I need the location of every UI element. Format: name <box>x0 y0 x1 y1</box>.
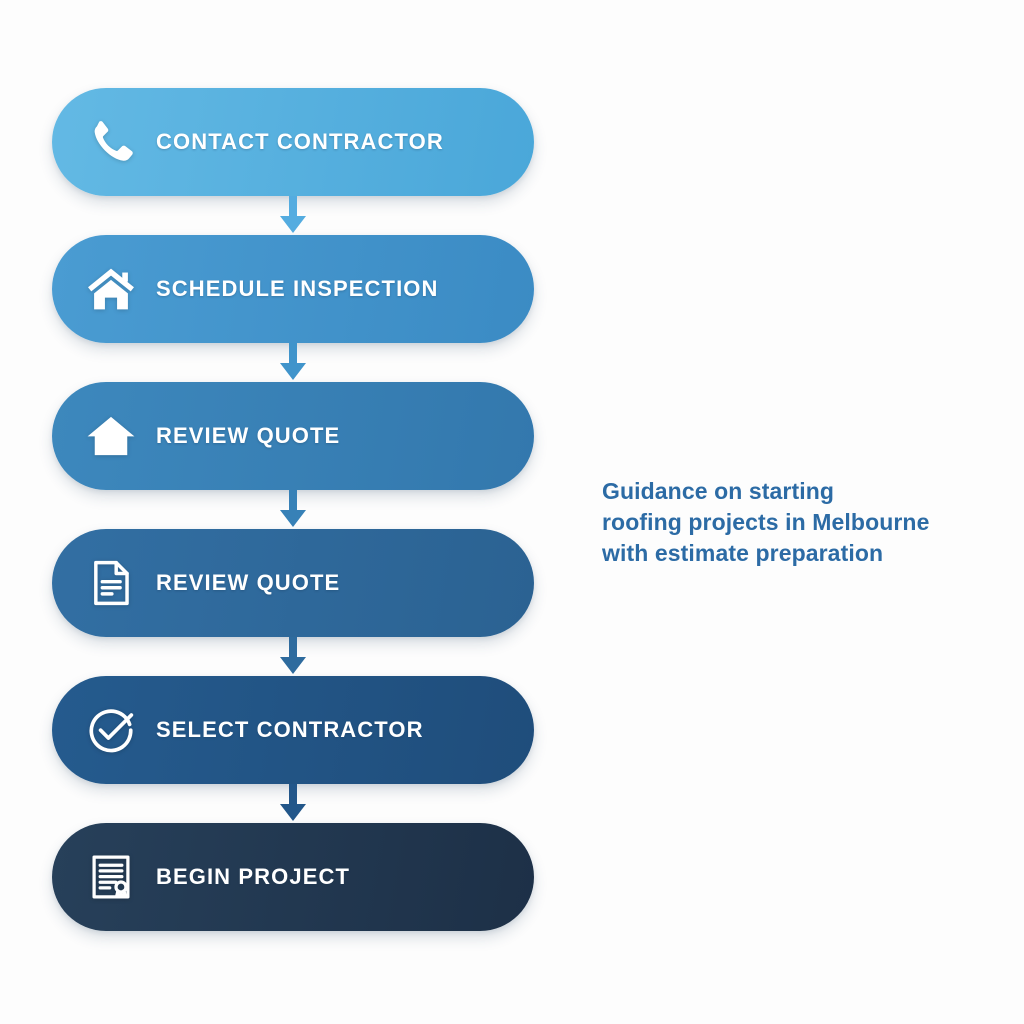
phone-icon <box>78 109 144 175</box>
caption-line-3: with estimate preparation <box>602 538 974 569</box>
step-label: SELECT CONTRACTOR <box>156 717 424 743</box>
step-label: BEGIN PROJECT <box>156 864 350 890</box>
flow-arrow-5-to-6 <box>52 784 534 823</box>
house-icon <box>78 256 144 322</box>
caption-line-2: roofing projects in Melbourne <box>602 507 974 538</box>
step-pill-begin-project[interactable]: BEGIN PROJECT <box>52 823 534 931</box>
process-step-2: SCHEDULE INSPECTION <box>52 235 534 382</box>
flow-arrow-2-to-3 <box>52 343 534 382</box>
step-pill-schedule-inspection[interactable]: SCHEDULE INSPECTION <box>52 235 534 343</box>
caption-line-1: Guidance on starting <box>602 476 974 507</box>
step-label: SCHEDULE INSPECTION <box>156 276 438 302</box>
check-circle-icon <box>78 697 144 763</box>
caption-text: Guidance on starting roofing projects in… <box>602 476 974 569</box>
step-pill-review-quote-home[interactable]: REVIEW QUOTE <box>52 382 534 490</box>
step-label: CONTACT CONTRACTOR <box>156 129 444 155</box>
step-label: REVIEW QUOTE <box>156 570 340 596</box>
flowchart-canvas: CONTACT CONTRACTOR SCHEDULE I <box>0 0 1024 1024</box>
home-solid-icon <box>78 403 144 469</box>
process-step-6: BEGIN PROJECT <box>52 823 534 931</box>
flow-arrow-3-to-4 <box>52 490 534 529</box>
step-pill-select-contractor[interactable]: SELECT CONTRACTOR <box>52 676 534 784</box>
process-step-5: SELECT CONTRACTOR <box>52 676 534 823</box>
document-icon <box>78 550 144 616</box>
certificate-icon <box>78 844 144 910</box>
process-step-4: REVIEW QUOTE <box>52 529 534 676</box>
flow-arrow-1-to-2 <box>52 196 534 235</box>
step-label: REVIEW QUOTE <box>156 423 340 449</box>
process-step-1: CONTACT CONTRACTOR <box>52 88 534 235</box>
step-pill-review-quote-document[interactable]: REVIEW QUOTE <box>52 529 534 637</box>
step-pill-contact-contractor[interactable]: CONTACT CONTRACTOR <box>52 88 534 196</box>
flow-arrow-4-to-5 <box>52 637 534 676</box>
process-flow-column: CONTACT CONTRACTOR SCHEDULE I <box>52 88 534 931</box>
process-step-3: REVIEW QUOTE <box>52 382 534 529</box>
